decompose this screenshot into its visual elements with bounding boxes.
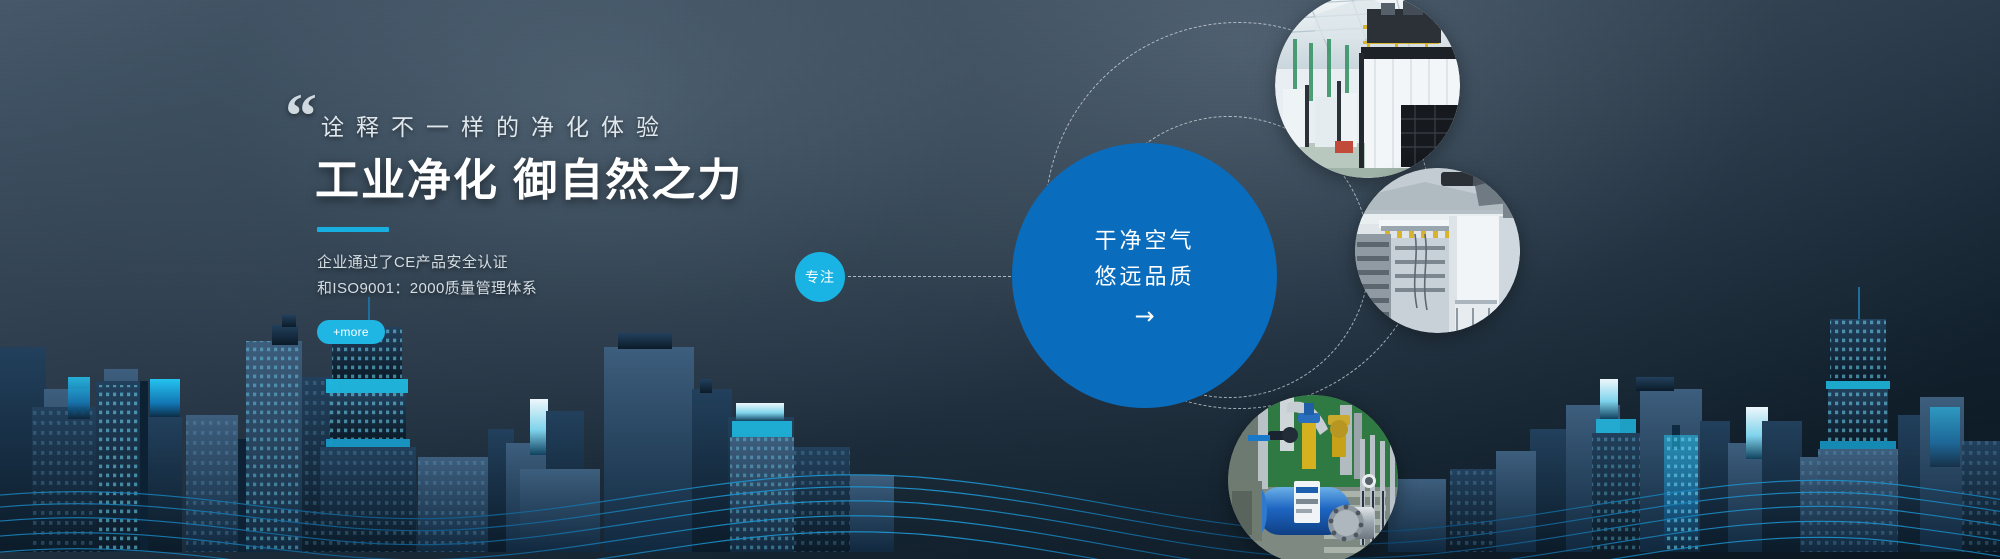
photo-circle-pipeline[interactable] (1228, 395, 1398, 559)
accent-divider (317, 227, 389, 232)
main-circle-line-2: 悠远品质 (1094, 259, 1194, 295)
more-button[interactable]: +more (317, 320, 385, 344)
photo-circle-workshop[interactable] (1275, 0, 1460, 178)
main-blue-circle[interactable]: 干净空气 悠远品质 → (1012, 143, 1277, 408)
hero-headline: 工业净化 御自然之力 (315, 154, 905, 208)
main-circle-line-1: 干净空气 (1094, 223, 1194, 259)
arrow-right-icon: → (1134, 304, 1154, 328)
hero-description-line-1: 企业通过了CE产品安全认证 (317, 250, 905, 276)
photo-circle-machinery[interactable] (1355, 168, 1520, 333)
hero-eyebrow: 诠释不一样的净化体验 (321, 86, 905, 142)
hero-copy-block: “ 诠释不一样的净化体验 工业净化 御自然之力 企业通过了CE产品安全认证 和I… (285, 86, 905, 344)
hero-banner: “ 诠释不一样的净化体验 工业净化 御自然之力 企业通过了CE产品安全认证 和I… (0, 0, 2000, 559)
hero-description-line-2: 和ISO9001：2000质量管理体系 (317, 276, 905, 302)
quote-mark-icon: “ (285, 84, 315, 148)
hero-description: 企业通过了CE产品安全认证 和ISO9001：2000质量管理体系 (317, 250, 905, 302)
